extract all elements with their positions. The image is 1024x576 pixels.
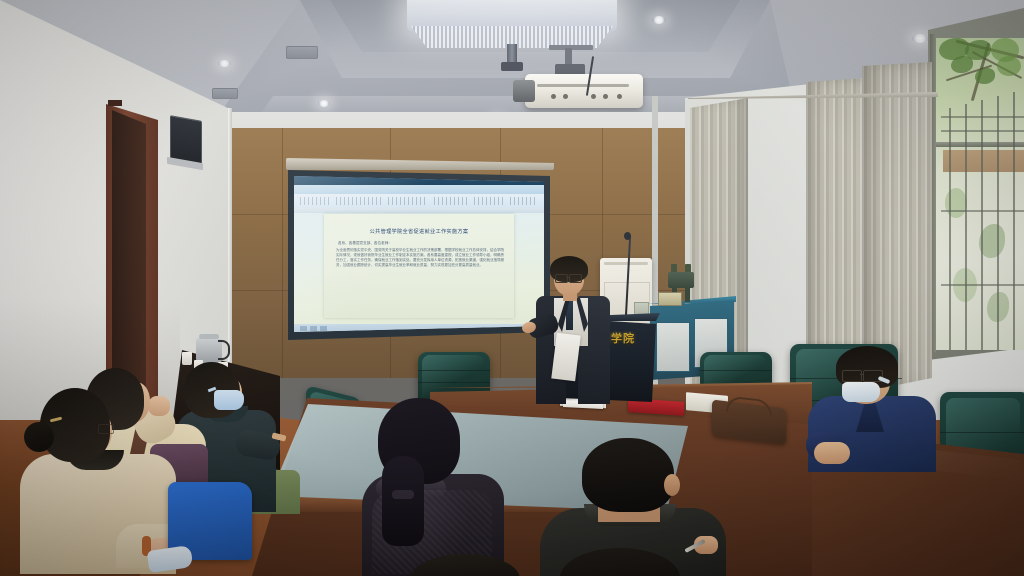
microphone-head — [624, 232, 631, 240]
hair-tie — [392, 490, 414, 499]
door-hinge — [108, 100, 122, 106]
word-ruler — [294, 208, 544, 213]
kettle-lid — [199, 334, 219, 339]
downlight-icon — [218, 60, 231, 67]
display-plaque — [658, 292, 682, 306]
glasses-icon — [98, 424, 114, 434]
standing-presenter — [524, 256, 620, 406]
glasses-icon — [569, 274, 582, 283]
window-glass — [935, 38, 1024, 350]
ceiling-projector — [525, 62, 645, 110]
ceiling-vent — [286, 46, 318, 59]
ceiling-vent — [212, 88, 238, 99]
downlight-icon — [912, 34, 928, 43]
word-document-page: 公共管理学院全省促进就业工作实施方案 各系、各基层党支部、各位老师： 为全面贯彻… — [324, 214, 514, 318]
glasses-icon — [555, 274, 568, 283]
document-subtitle: 各系、各基层党支部、各位老师： — [338, 241, 503, 246]
attendee-center-ponytail — [356, 398, 506, 576]
projector-lens — [513, 80, 535, 102]
face-mask — [842, 382, 880, 402]
face-mask — [214, 390, 244, 410]
word-ribbon-tabs — [294, 185, 544, 194]
presenter-document — [551, 333, 580, 382]
downlight-icon — [318, 100, 330, 107]
document-body: 为全面贯彻落实党中央、国务院关于高校毕业生就业工作的决策部署，根据学校就业工作总… — [336, 248, 504, 268]
projection-screen: 公共管理学院全省促进就业工作实施方案 各系、各基层党支部、各位老师： 为全面贯彻… — [294, 176, 544, 332]
curtain-panel — [806, 78, 868, 378]
ponytail — [382, 456, 424, 546]
document-title: 公共管理学院全省促进就业工作实施方案 — [324, 228, 514, 235]
kettle-handle — [218, 340, 230, 360]
curtain-panel — [862, 62, 932, 392]
window — [928, 8, 1024, 360]
glasses-icon — [842, 370, 862, 382]
attendee-front-left — [20, 388, 180, 576]
conference-room-photo: 公共管理学院全省促进就业工作实施方案 各系、各基层党支部、各位老师： 为全面贯彻… — [0, 0, 1024, 576]
attendee-right-seated — [806, 346, 942, 466]
downlight-icon — [652, 16, 666, 24]
